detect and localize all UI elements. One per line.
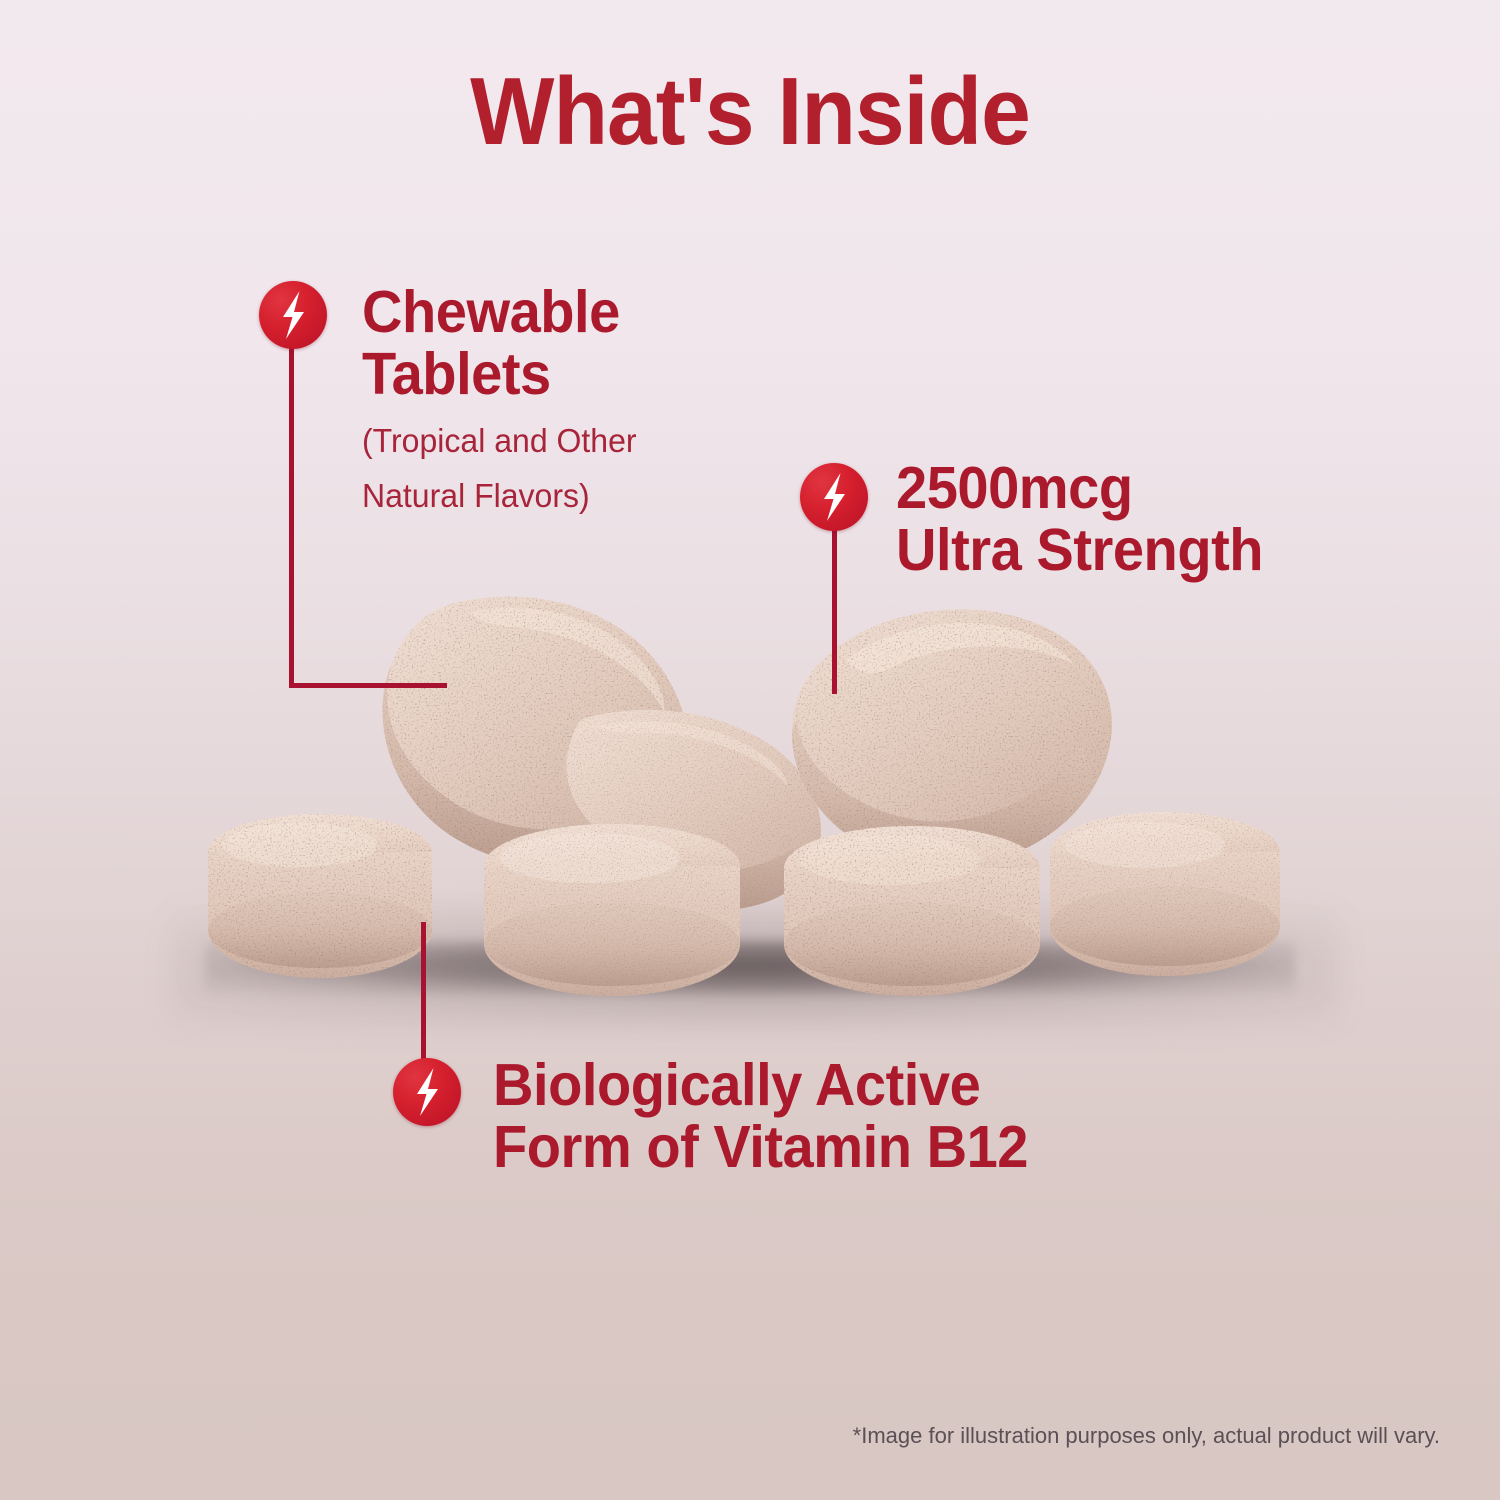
tablet-bottom-2: [484, 824, 740, 996]
callout-strength-heading-line1: 2500mcg: [896, 458, 1428, 520]
leader-line-b12-vertical: [421, 922, 426, 1074]
callout-b12-heading-line1: Biologically Active: [493, 1055, 1215, 1117]
tablets-svg: [0, 0, 1500, 1500]
callout-chewable-sub-line1: (Tropical and Other: [362, 422, 769, 461]
lightning-bolt-icon: [800, 463, 868, 531]
tablet-bottom-3: [784, 826, 1040, 996]
leader-line-chewable-vertical: [289, 340, 294, 688]
callout-chewable-tablets: Chewable Tablets (Tropical and Other Nat…: [362, 282, 782, 516]
callout-strength-heading-line2: Ultra Strength: [896, 520, 1428, 582]
callout-chewable-heading-line1: Chewable: [362, 282, 761, 344]
callout-chewable-sub-line2: Natural Flavors): [362, 477, 769, 516]
lightning-bolt-icon: [393, 1058, 461, 1126]
disclaimer-footnote: *Image for illustration purposes only, a…: [0, 1423, 1440, 1449]
tablet-bottom-4: [1050, 812, 1280, 976]
product-infographic: What's Inside: [0, 0, 1500, 1500]
callout-chewable-heading-line2: Tablets: [362, 344, 761, 406]
callout-ultra-strength: 2500mcg Ultra Strength: [896, 458, 1456, 582]
tablet-pile-image: [0, 0, 1500, 1500]
leader-line-strength-vertical: [832, 522, 837, 694]
callout-b12-heading-line2: Form of Vitamin B12: [493, 1117, 1215, 1179]
lightning-bolt-icon: [259, 281, 327, 349]
leader-line-chewable-horizontal: [289, 683, 447, 688]
callout-biologically-active: Biologically Active Form of Vitamin B12: [493, 1055, 1253, 1179]
tablet-bottom-1: [208, 814, 432, 978]
